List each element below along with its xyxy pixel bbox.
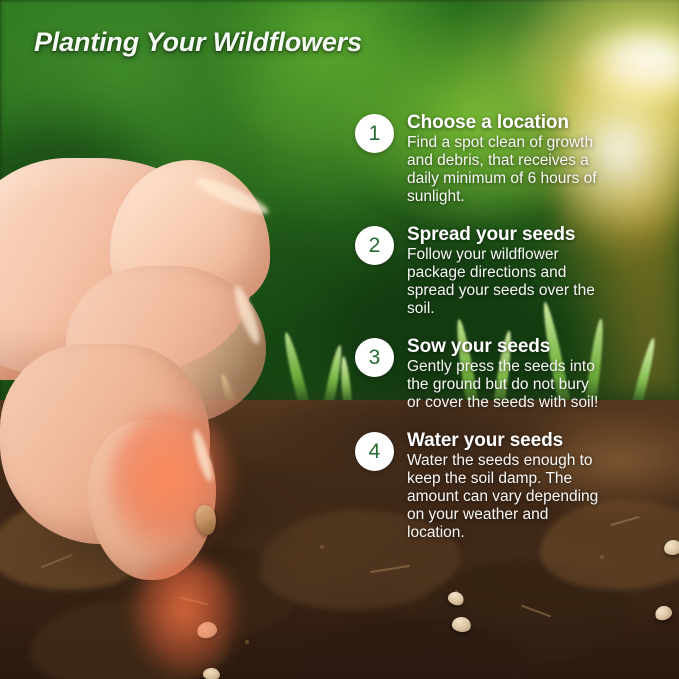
step-body: Find a spot clean of growth and debris, … — [407, 134, 605, 206]
step-text-block: Spread your seeds Follow your wildflower… — [407, 224, 605, 318]
step-number-badge: 4 — [355, 432, 394, 471]
step-text-block: Choose a location Find a spot clean of g… — [407, 112, 605, 206]
step-heading: Choose a location — [407, 112, 605, 133]
step-item: 3 Sow your seeds Gently press the seeds … — [355, 336, 655, 412]
content-layer: Planting Your Wildflowers 1 Choose a loc… — [0, 0, 679, 679]
step-number-badge: 1 — [355, 114, 394, 153]
infographic-poster: Planting Your Wildflowers 1 Choose a loc… — [0, 0, 679, 679]
step-body: Water the seeds enough to keep the soil … — [407, 452, 605, 542]
steps-list: 1 Choose a location Find a spot clean of… — [355, 112, 655, 560]
step-heading: Water your seeds — [407, 430, 605, 451]
step-text-block: Water your seeds Water the seeds enough … — [407, 430, 605, 542]
step-body: Follow your wildflower package direction… — [407, 246, 605, 318]
step-item: 4 Water your seeds Water the seeds enoug… — [355, 430, 655, 542]
step-item: 1 Choose a location Find a spot clean of… — [355, 112, 655, 206]
page-title: Planting Your Wildflowers — [34, 27, 362, 58]
step-item: 2 Spread your seeds Follow your wildflow… — [355, 224, 655, 318]
step-heading: Sow your seeds — [407, 336, 605, 357]
step-number-badge: 3 — [355, 338, 394, 377]
step-number-badge: 2 — [355, 226, 394, 265]
step-text-block: Sow your seeds Gently press the seeds in… — [407, 336, 605, 412]
step-heading: Spread your seeds — [407, 224, 605, 245]
step-body: Gently press the seeds into the ground b… — [407, 358, 605, 412]
